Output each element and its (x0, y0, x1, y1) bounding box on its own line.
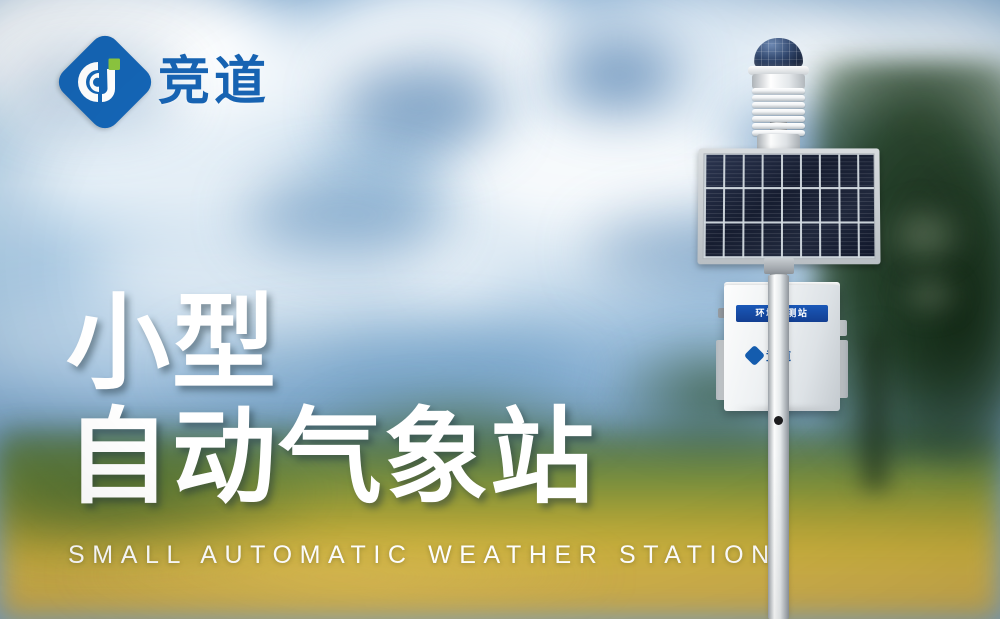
brand-logo[interactable]: 竞道 (68, 45, 270, 119)
solar-panel-cells (703, 153, 876, 259)
tree-highlight-lower (895, 270, 965, 320)
solar-panel-bracket (764, 258, 794, 274)
headline-subtitle: SMALL AUTOMATIC WEATHER STATION (68, 541, 777, 570)
jingdao-diamond-logo-icon (53, 30, 158, 135)
ultrasonic-weather-sensor-icon (754, 38, 803, 68)
solar-panel (697, 148, 880, 264)
headline-line-2: 自动气象站 (66, 406, 596, 510)
mast-bolt (774, 416, 783, 425)
headline-block: 小型 自动气象站 (66, 292, 596, 510)
louvered-radiation-shield (752, 88, 805, 136)
brand-name: 竞道 (158, 56, 270, 108)
support-mast (768, 275, 789, 619)
weather-station-product: 环境监测站 竞道 (690, 20, 890, 619)
weather-station-hero-banner: 竞道 小型 自动气象站 SMALL AUTOMATIC WEATHER STAT… (0, 0, 1000, 619)
jingdao-diamond-logo-icon-small (744, 345, 765, 366)
sensor-neck (752, 74, 805, 89)
tree-highlight (880, 200, 970, 270)
headline-line-1: 小型 (66, 292, 596, 396)
